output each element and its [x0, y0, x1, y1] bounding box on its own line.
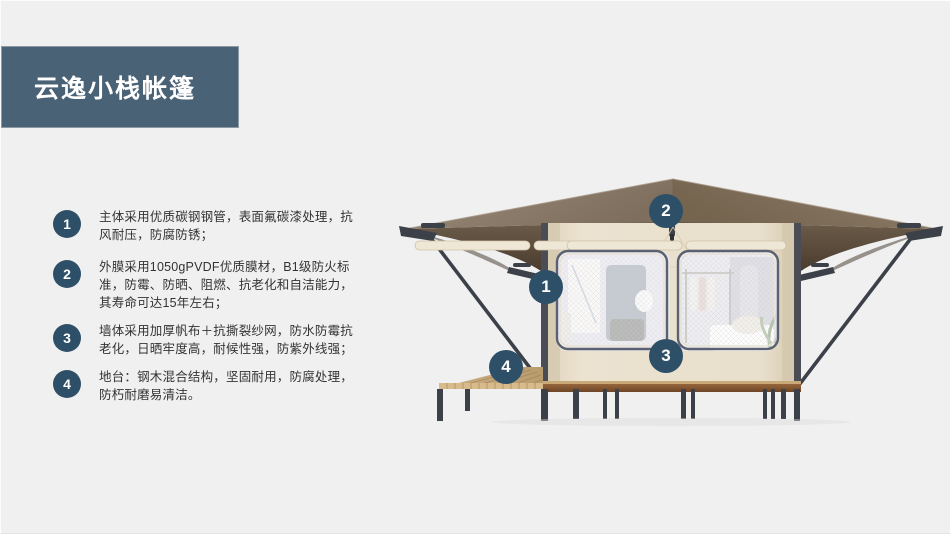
steel-legs	[437, 389, 800, 421]
window-right	[678, 251, 788, 351]
callout-badge-3[interactable]: 3	[649, 339, 683, 373]
corner-post-right	[794, 223, 801, 389]
list-item: 4 地台：钢木混合结构，坚固耐用，防腐处理，防朽耐磨易清洁。	[53, 368, 373, 404]
callout-badge-2[interactable]: 2	[649, 194, 683, 228]
page-title-bar: 云逸小栈帐篷	[1, 46, 239, 128]
page-root: 云逸小栈帐篷 1 主体采用优质碳钢钢管，表面氟碳漆处理，抗风耐压，防腐防锈； 2…	[0, 0, 950, 534]
window-valance-left	[415, 241, 530, 250]
feature-badge-3: 3	[53, 324, 81, 352]
feature-badge-2: 2	[53, 260, 81, 288]
page-title: 云逸小栈帐篷	[34, 69, 196, 105]
callout-badge-4[interactable]: 4	[489, 350, 523, 384]
callout-badge-1[interactable]: 1	[529, 270, 563, 304]
list-item: 2 外膜采用1050gPVDF优质膜材，B1级防火标准，防霉、防晒、阻燃、抗老化…	[53, 258, 373, 312]
feature-badge-4: 4	[53, 370, 81, 398]
list-item: 1 主体采用优质碳钢钢管，表面氟碳漆处理，抗风耐压，防腐防锈；	[53, 208, 373, 244]
platform-fascia	[543, 383, 801, 392]
feature-list: 1 主体采用优质碳钢钢管，表面氟碳漆处理，抗风耐压，防腐防锈； 2 外膜采用10…	[53, 208, 373, 414]
feature-text-2: 外膜采用1050gPVDF优质膜材，B1级防火标准，防霉、防晒、阻燃、抗老化和自…	[99, 258, 361, 312]
window-left	[557, 251, 670, 351]
feature-badge-1: 1	[53, 210, 81, 238]
feature-text-1: 主体采用优质碳钢钢管，表面氟碳漆处理，抗风耐压，防腐防锈；	[99, 208, 361, 244]
feature-text-4: 地台：钢木混合结构，坚固耐用，防腐处理，防朽耐磨易清洁。	[99, 368, 361, 404]
feature-text-3: 墙体采用加厚帆布＋抗撕裂纱网，防水防霉抗老化，日晒牢度高，耐候性强，防紫外线强；	[99, 322, 361, 358]
list-item: 3 墙体采用加厚帆布＋抗撕裂纱网，防水防霉抗老化，日晒牢度高，耐候性强，防紫外线…	[53, 322, 373, 358]
